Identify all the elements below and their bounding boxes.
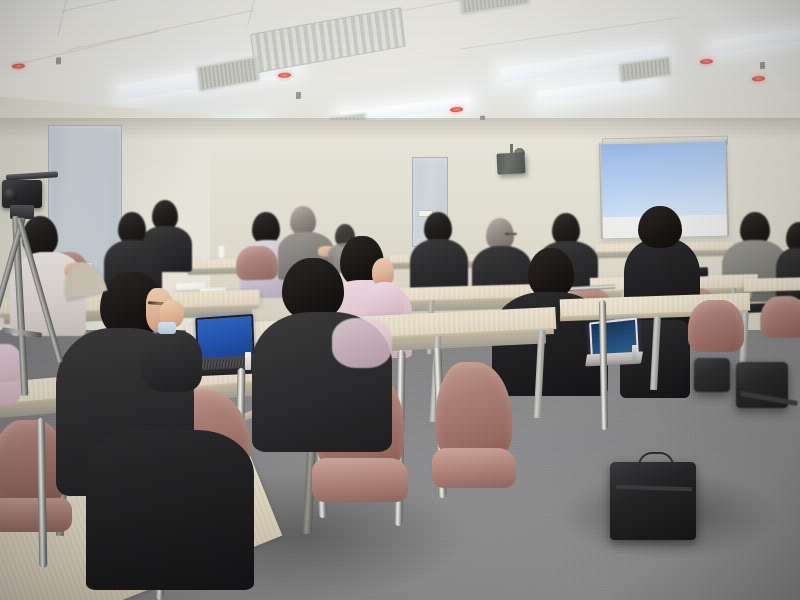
air-vent [197,57,259,91]
chair-seat[interactable] [432,448,516,488]
usb-dongle [245,352,251,370]
seminar-room-photograph [0,0,800,600]
sprinkler-head [296,92,301,99]
air-vent [459,0,530,14]
chair[interactable] [759,295,800,339]
ceiling-light-fixture [712,22,800,53]
chair-seat[interactable] [0,498,72,532]
sprinkler-head [56,57,61,64]
person-head [290,206,316,235]
ceiling-light-fixture [538,76,659,103]
person-head [638,206,682,248]
ceiling-indicator-light [12,63,25,69]
laptop-bag[interactable] [694,358,730,392]
table-mid-far-right [744,277,800,291]
person-head [282,258,344,320]
person-torso [776,248,800,300]
person-torso [332,318,392,368]
chair[interactable] [688,300,744,352]
chair[interactable] [235,245,278,280]
ceiling-indicator-light [752,76,765,82]
ceiling-indicator-light [278,72,291,78]
person-torso [86,430,254,590]
laptop-bag[interactable] [610,462,696,540]
chair-seat[interactable] [312,458,408,502]
camera-lens-icon [4,188,17,201]
ceiling-indicator-light [450,107,463,113]
eyeglasses [505,233,517,235]
slide-text [602,173,726,176]
ceiling-light-fixture-off [250,7,406,73]
ceiling-speaker [496,152,525,174]
bag-handle [638,452,674,468]
ceiling-indicator-light [700,59,713,65]
sprinkler-head [760,62,765,69]
paper-cup [218,246,226,258]
person-head [528,248,574,298]
